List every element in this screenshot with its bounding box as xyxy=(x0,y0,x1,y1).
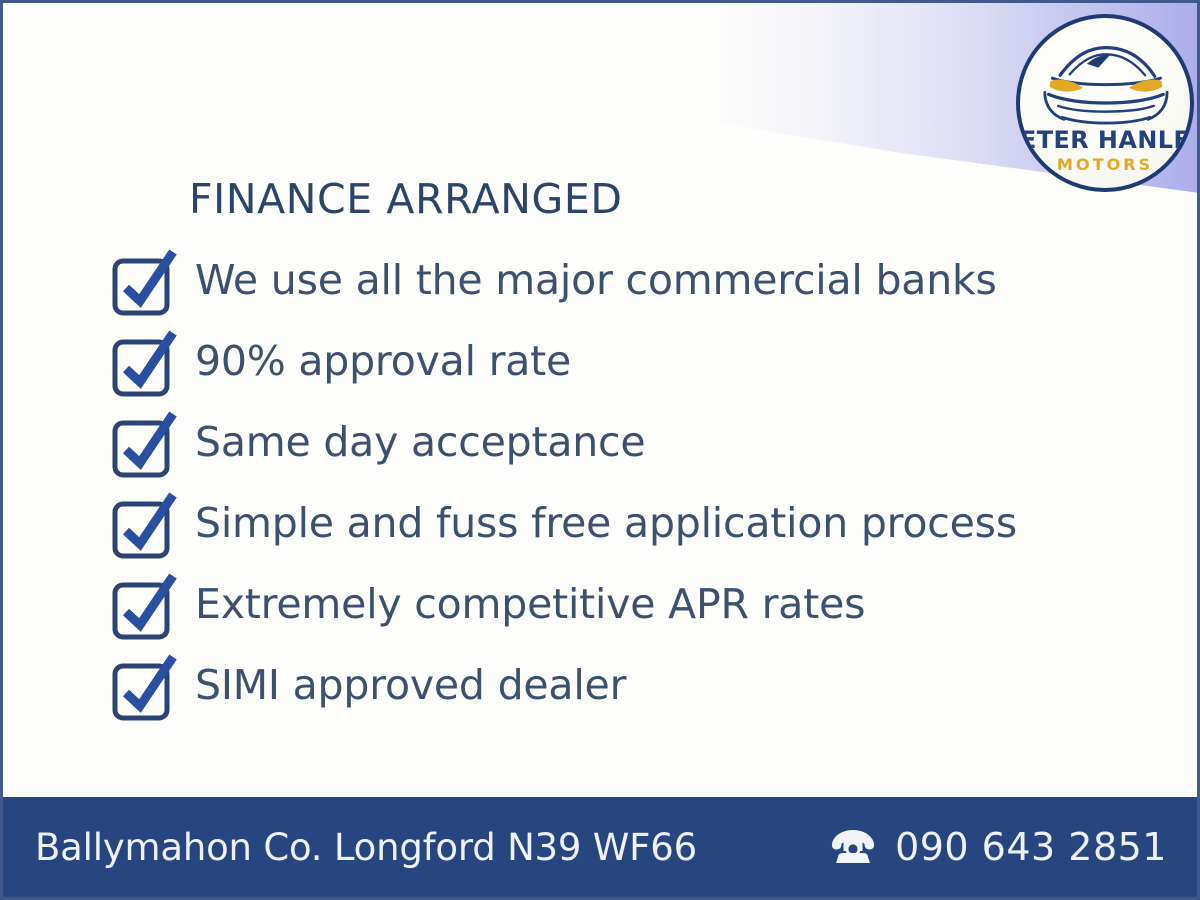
logo-brand-sub: MOTORS xyxy=(1057,155,1153,174)
list-item-label: We use all the major commercial banks xyxy=(195,260,997,304)
list-item: 90% approval rate xyxy=(109,322,1109,403)
checkbox-checked-icon xyxy=(109,409,179,479)
list-item-label: Same day acceptance xyxy=(195,422,645,466)
logo-brand-name: PETER HANLEY xyxy=(1020,126,1190,154)
checkbox-checked-icon xyxy=(109,652,179,722)
list-item: Extremely competitive APR rates xyxy=(109,565,1109,646)
checkbox-checked-icon xyxy=(109,490,179,560)
checkbox-checked-icon xyxy=(109,247,179,317)
checkbox-checked-icon xyxy=(109,571,179,641)
list-item-label: Simple and fuss free application process xyxy=(195,503,1017,547)
list-item-label: Extremely competitive APR rates xyxy=(195,584,865,628)
telephone-icon xyxy=(829,827,877,867)
list-item: We use all the major commercial banks xyxy=(109,241,1109,322)
list-item: Same day acceptance xyxy=(109,403,1109,484)
footer-phone-group[interactable]: 090 643 2851 xyxy=(829,825,1167,869)
list-item: Simple and fuss free application process xyxy=(109,484,1109,565)
checkbox-checked-icon xyxy=(109,328,179,398)
list-item-label: 90% approval rate xyxy=(195,341,571,385)
list-item-label: SIMI approved dealer xyxy=(195,665,626,709)
footer-address: Ballymahon Co. Longford N39 WF66 xyxy=(35,826,697,869)
brand-logo: PETER HANLEY MOTORS xyxy=(1016,14,1194,192)
list-item: SIMI approved dealer xyxy=(109,646,1109,727)
car-front-icon xyxy=(1045,48,1167,123)
promo-poster: PETER HANLEY MOTORS FINANCE ARRANGED We … xyxy=(0,0,1200,900)
footer-contact-bar: Ballymahon Co. Longford N39 WF66 090 643… xyxy=(3,797,1197,897)
page-title: FINANCE ARRANGED xyxy=(189,175,623,223)
feature-list: We use all the major commercial banks 90… xyxy=(109,241,1109,727)
footer-phone-number: 090 643 2851 xyxy=(895,825,1167,869)
